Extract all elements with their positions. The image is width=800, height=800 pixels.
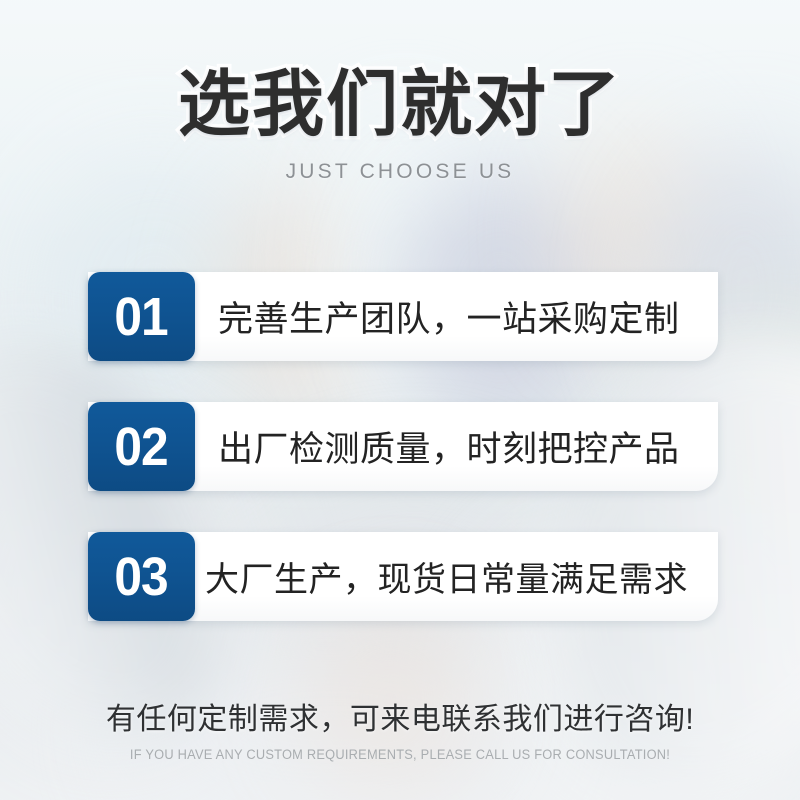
banner-content: 选我们就对了 JUST CHOOSE US 01 完善生产团队，一站采购定制 0… — [0, 0, 800, 800]
feature-text: 大厂生产，现货日常量满足需求 — [205, 532, 688, 621]
footer-cta-chinese: 有任何定制需求，可来电联系我们进行咨询! — [0, 694, 800, 738]
feature-number: 02 — [115, 420, 168, 474]
page-title: 选我们就对了 — [178, 68, 622, 144]
footer-block: 有任何定制需求，可来电联系我们进行咨询! IF YOU HAVE ANY CUS… — [0, 694, 800, 762]
headline-block: 选我们就对了 JUST CHOOSE US — [0, 68, 800, 184]
feature-row: 02 出厂检测质量，时刻把控产品 — [88, 402, 720, 491]
feature-number-badge: 03 — [88, 532, 195, 621]
page-subtitle: JUST CHOOSE US — [0, 160, 800, 184]
feature-text: 完善生产团队，一站采购定制 — [218, 272, 680, 361]
promo-banner: 选我们就对了 JUST CHOOSE US 01 完善生产团队，一站采购定制 0… — [0, 0, 800, 800]
feature-row: 01 完善生产团队，一站采购定制 — [88, 272, 720, 361]
footer-cta-english: IF YOU HAVE ANY CUSTOM REQUIREMENTS, PLE… — [20, 747, 780, 762]
feature-text: 出厂检测质量，时刻把控产品 — [218, 402, 680, 491]
feature-number-badge: 01 — [88, 272, 195, 361]
feature-list: 01 完善生产团队，一站采购定制 02 出厂检测质量，时刻把控产品 03 大厂生… — [88, 272, 720, 621]
feature-row: 03 大厂生产，现货日常量满足需求 — [88, 532, 720, 621]
feature-number: 01 — [115, 290, 168, 344]
feature-number: 03 — [115, 550, 168, 604]
feature-number-badge: 02 — [88, 402, 195, 491]
